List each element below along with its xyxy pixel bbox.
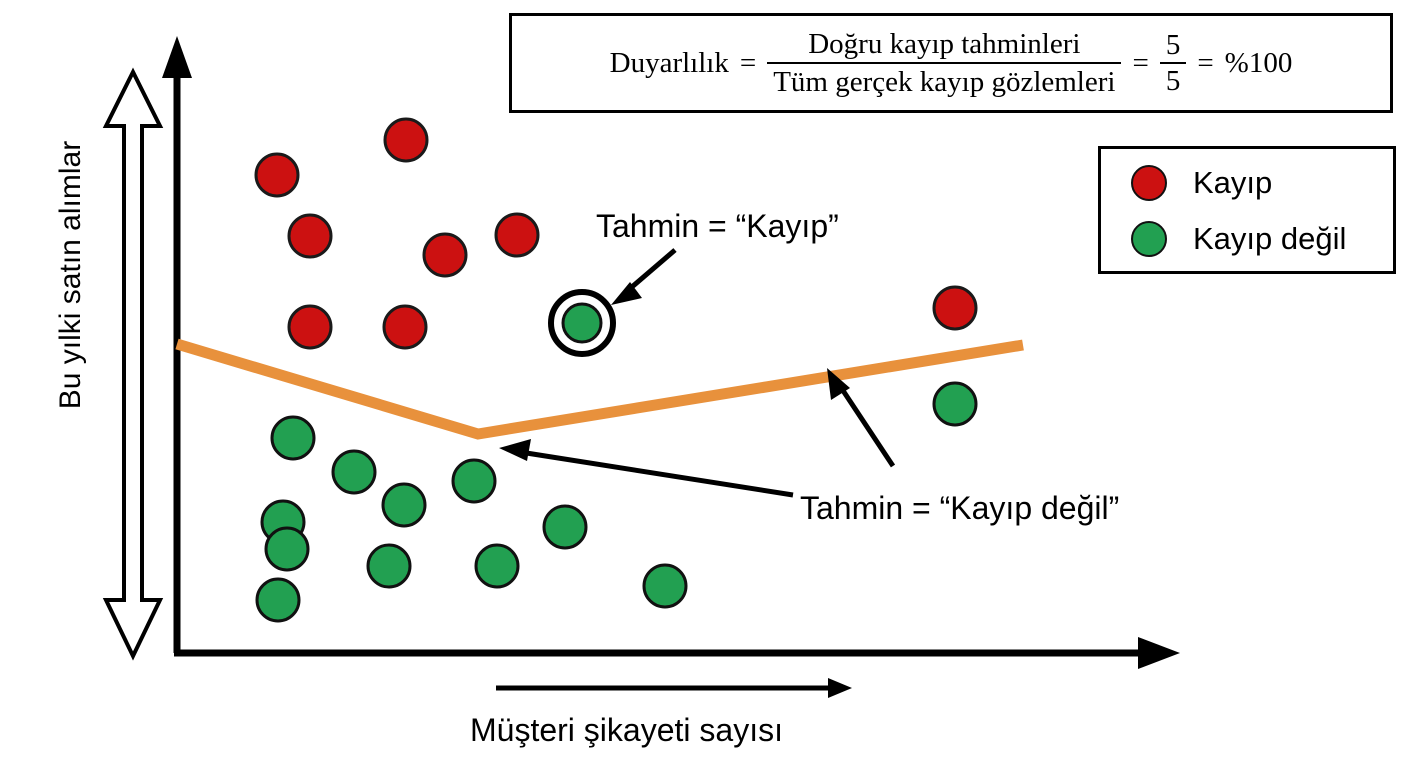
data-point-churn [289,215,331,257]
annotation-label-prediction-churn: Tahmin = “Kayıp” [596,208,839,245]
legend-item-not-churn: Kayıp değil [1101,211,1393,267]
data-point-churn [424,234,466,276]
data-point-churn [496,214,538,256]
diagram-canvas: Bu yılki satın alımlar Müşteri şikayeti … [0,0,1408,768]
formula-result: %100 [1225,47,1293,80]
x-axis-label: Müşteri şikayeti sayısı [470,712,783,749]
data-point-not-churn [544,506,586,548]
metric-formula: Duyarlılık = Doğru kayıp tahminleri Tüm … [610,28,1293,99]
data-point-not-churn [333,451,375,493]
data-point-churn [289,306,331,348]
y-axis-label: Bu yılki satın alımlar [54,110,88,440]
formula-equals-3: = [1195,47,1215,80]
data-point-not-churn [266,528,308,570]
data-point-churn [934,287,976,329]
legend: Kayıp Kayıp değil [1098,146,1396,274]
formula-main-fraction: Doğru kayıp tahminleri Tüm gerçek kayıp … [767,28,1121,99]
data-point-not-churn [644,565,686,607]
legend-label-not-churn: Kayıp değil [1193,221,1346,257]
annotation-label-prediction-not-churn: Tahmin = “Kayıp değil” [800,490,1119,527]
y-range-double-arrow [106,72,160,656]
formula-lhs: Duyarlılık [610,47,729,80]
annotation-arrow-boundary-right [827,368,893,466]
formula-numerator: Doğru kayıp tahminleri [802,28,1086,62]
y-axis-arrowhead [162,36,192,78]
data-point-churn [384,306,426,348]
legend-label-churn: Kayıp [1193,165,1272,201]
metric-formula-box: Duyarlılık = Doğru kayıp tahminleri Tüm … [509,13,1393,113]
formula-result-numerator: 5 [1160,29,1187,62]
formula-result-denominator: 5 [1160,62,1187,97]
legend-item-churn: Kayıp [1101,155,1393,211]
legend-swatch-red-circle-icon [1131,165,1167,201]
x-direction-arrow [496,678,852,698]
data-point-not-churn [934,383,976,425]
formula-equals-1: = [738,47,758,80]
data-point-not-churn [257,579,299,621]
annotation-arrow-prediction-churn [611,250,675,305]
legend-swatch-green-circle-icon [1131,221,1167,257]
formula-denominator: Tüm gerçek kayıp gözlemleri [767,62,1121,98]
data-point-not-churn [383,484,425,526]
formula-equals-2: = [1130,47,1150,80]
x-axis-arrowhead [1138,637,1180,669]
data-point-not-churn [368,545,410,587]
data-point-not-churn [476,545,518,587]
data-point-not-churn [272,417,314,459]
annotation-arrow-prediction-not-churn [499,439,793,495]
highlighted-data-point [551,292,613,354]
formula-result-fraction: 5 5 [1160,29,1187,98]
data-point-churn [385,119,427,161]
data-point-not-churn [453,460,495,502]
data-point-churn [256,154,298,196]
data-point-not-churn-highlighted [563,304,601,342]
scatter-plot-svg [0,0,1408,768]
